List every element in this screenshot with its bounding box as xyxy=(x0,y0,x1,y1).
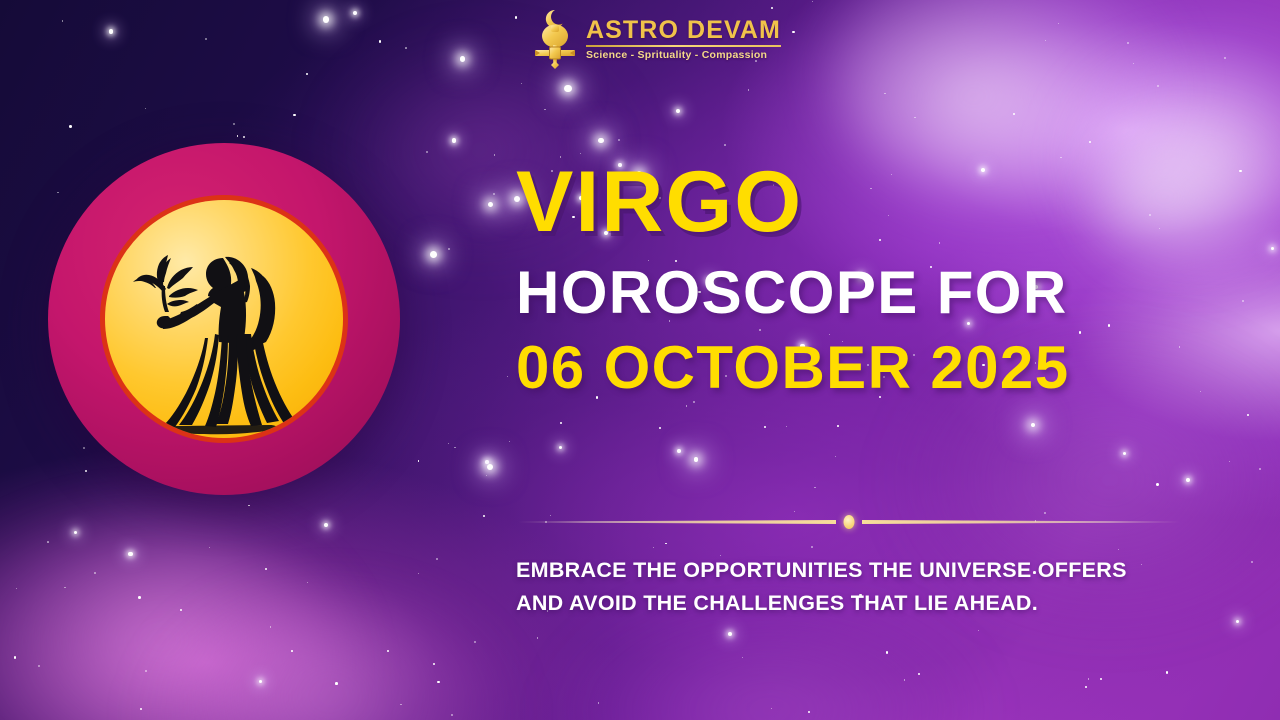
star xyxy=(1058,23,1059,24)
star xyxy=(243,136,245,138)
brand-rule xyxy=(586,45,781,47)
star xyxy=(145,670,147,672)
star xyxy=(47,541,49,543)
star xyxy=(564,85,572,93)
star xyxy=(837,425,839,427)
star xyxy=(1229,461,1230,462)
star xyxy=(598,138,604,144)
star xyxy=(452,138,457,143)
star xyxy=(1259,468,1261,470)
ornamental-divider xyxy=(518,514,1180,530)
star xyxy=(291,650,293,652)
divider-right-segment xyxy=(862,520,1180,524)
star xyxy=(205,38,207,40)
star xyxy=(69,125,72,128)
star xyxy=(485,460,489,464)
star xyxy=(748,89,749,90)
star xyxy=(764,426,766,428)
star xyxy=(918,673,920,675)
tagline-line-1: EMBRACE THE OPPORTUNITIES THE UNIVERSE O… xyxy=(516,554,1264,587)
star xyxy=(138,596,141,599)
star xyxy=(559,446,562,449)
star xyxy=(400,704,402,706)
star xyxy=(792,31,795,34)
star xyxy=(494,154,496,156)
star xyxy=(544,109,546,111)
brand-wordmark: ASTRO DEVAM xyxy=(586,17,781,43)
star xyxy=(483,515,485,517)
star xyxy=(448,443,450,445)
star xyxy=(306,73,309,76)
star xyxy=(430,251,437,258)
star xyxy=(1118,549,1120,551)
star xyxy=(686,405,688,407)
star xyxy=(1157,85,1159,87)
star xyxy=(265,568,267,570)
star xyxy=(38,665,40,667)
star xyxy=(1045,40,1046,41)
brand-tagline: Science - Sprituality - Compassion xyxy=(586,49,781,61)
star xyxy=(109,29,113,33)
horoscope-date: 06 OCTOBER 2025 xyxy=(516,337,1216,398)
virgo-maiden-icon xyxy=(105,200,343,438)
star xyxy=(405,47,407,49)
star xyxy=(1127,42,1129,44)
star xyxy=(1166,671,1169,674)
star xyxy=(1089,141,1091,143)
nebula-wisp xyxy=(0,520,350,720)
star xyxy=(694,457,699,462)
star xyxy=(771,708,773,710)
star xyxy=(742,657,744,659)
star xyxy=(598,702,600,704)
star xyxy=(835,456,836,457)
star xyxy=(64,587,66,589)
star xyxy=(653,547,654,548)
star xyxy=(509,441,510,442)
star xyxy=(914,117,915,118)
star xyxy=(1239,170,1242,173)
star xyxy=(786,426,787,427)
star xyxy=(270,626,272,628)
star xyxy=(323,16,330,23)
star xyxy=(145,108,146,109)
star xyxy=(353,11,357,15)
star xyxy=(1186,478,1190,482)
star xyxy=(387,650,389,652)
star xyxy=(1013,113,1016,116)
star xyxy=(978,630,979,631)
star xyxy=(904,679,906,681)
star xyxy=(677,449,681,453)
star xyxy=(307,582,309,584)
star xyxy=(94,572,96,574)
star xyxy=(794,511,795,512)
star xyxy=(1247,414,1249,416)
star xyxy=(1224,57,1226,59)
star xyxy=(537,637,539,639)
star xyxy=(560,422,562,424)
star xyxy=(259,680,262,683)
star xyxy=(237,135,239,137)
star xyxy=(437,681,439,683)
star xyxy=(886,651,889,654)
star xyxy=(74,531,78,535)
star xyxy=(1271,247,1274,250)
star xyxy=(808,711,810,713)
star xyxy=(1242,300,1244,302)
star xyxy=(418,460,420,462)
star xyxy=(659,427,661,429)
star xyxy=(486,475,487,476)
star xyxy=(454,447,455,448)
horoscope-poster: ASTRO DEVAM Science - Sprituality - Comp… xyxy=(0,0,1280,720)
star xyxy=(493,193,495,195)
kalash-crescent-icon xyxy=(533,8,577,70)
star xyxy=(487,464,493,470)
star xyxy=(1123,452,1126,455)
star xyxy=(233,123,235,125)
star xyxy=(335,682,338,685)
star xyxy=(515,16,518,19)
divider-left-segment xyxy=(518,520,836,524)
headline-block: VIRGO HOROSCOPE FOR 06 OCTOBER 2025 xyxy=(516,160,1216,399)
tagline-block: EMBRACE THE OPPORTUNITIES THE UNIVERSE O… xyxy=(516,554,1264,621)
star xyxy=(1085,686,1087,688)
star xyxy=(379,40,382,43)
brand-logo: ASTRO DEVAM Science - Sprituality - Comp… xyxy=(533,6,781,72)
star xyxy=(1156,483,1159,486)
star xyxy=(521,83,522,84)
star xyxy=(436,558,438,560)
star xyxy=(1133,63,1134,64)
star xyxy=(676,109,680,113)
star xyxy=(460,56,466,62)
star xyxy=(180,609,182,611)
star xyxy=(488,202,493,207)
star xyxy=(474,641,476,643)
star xyxy=(811,546,813,548)
star xyxy=(293,114,296,117)
star xyxy=(724,144,726,146)
star xyxy=(1100,678,1102,680)
star xyxy=(324,523,328,527)
star xyxy=(1031,423,1035,427)
page-title-sign: VIRGO xyxy=(516,160,1216,244)
star xyxy=(451,714,453,716)
star xyxy=(728,632,732,636)
tagline-line-2: AND AVOID THE CHALLENGES THAT LIE AHEAD. xyxy=(516,587,1264,620)
star xyxy=(1088,678,1090,680)
star xyxy=(418,573,420,575)
star xyxy=(433,663,435,665)
nebula-wisp xyxy=(150,600,510,720)
star xyxy=(814,487,816,489)
star xyxy=(693,401,695,403)
star xyxy=(16,588,17,589)
star xyxy=(140,708,142,710)
star xyxy=(618,139,620,141)
star xyxy=(14,656,17,659)
star xyxy=(1060,157,1062,159)
star xyxy=(507,376,508,377)
star xyxy=(665,543,667,545)
diamond-dot-icon xyxy=(844,515,855,529)
star xyxy=(62,20,64,22)
zodiac-emblem xyxy=(48,143,400,495)
page-subtitle: HOROSCOPE FOR xyxy=(516,262,1216,323)
star xyxy=(209,547,210,548)
star xyxy=(448,248,450,250)
star xyxy=(128,552,132,556)
star xyxy=(248,505,250,507)
star xyxy=(884,93,886,95)
star xyxy=(426,151,428,153)
star xyxy=(812,1,813,2)
